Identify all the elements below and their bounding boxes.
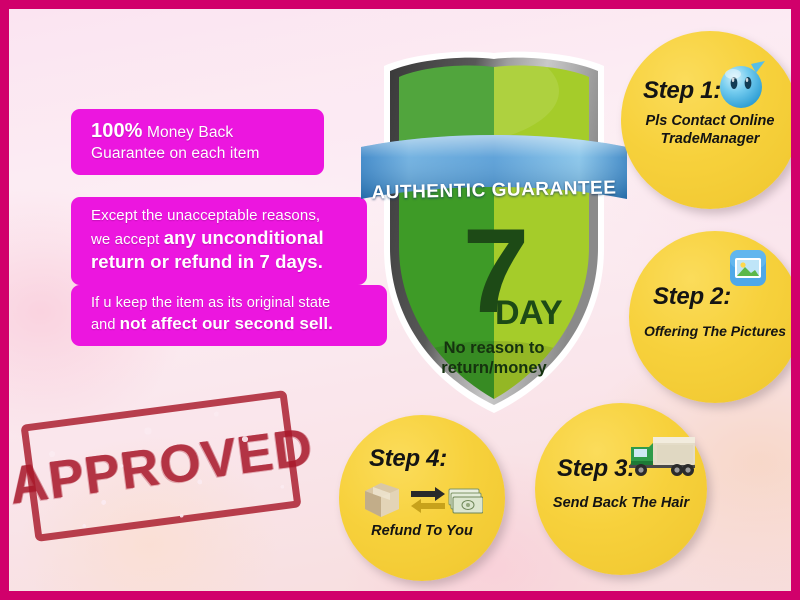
cash-icon (449, 489, 483, 513)
parcel-icon (365, 483, 399, 517)
shield-subtitle-line2: return/money (441, 359, 546, 377)
step-2-description: Offering The Pictures (629, 323, 800, 340)
step-1-description: Pls Contact Online TradeManager (621, 113, 799, 148)
exchange-arrows (411, 487, 445, 513)
banner3-lead: If u keep the item as its original state (91, 295, 330, 311)
banner2-mid: we accept (91, 231, 164, 248)
step-2-title: Step 2: (653, 283, 731, 311)
step-1-title: Step 1: (643, 77, 721, 105)
banner-money-back-guarantee: 100% Money Back Guarantee on each item (71, 109, 324, 175)
shield-subtitle-line1: No reason to (444, 339, 545, 357)
step-3-description: Send Back The Hair (535, 495, 707, 513)
banner3-bold: not affect our second sell. (120, 314, 333, 333)
banner-unconditional-return: Except the unacceptable reasons, we acce… (71, 197, 367, 285)
shield-subtitle: No reason to return/money (369, 339, 619, 379)
trade-manager-mascot-icon (717, 59, 769, 111)
step-3-title: Step 3: (557, 455, 635, 483)
banner3-mid: and (91, 317, 120, 333)
step-3-circle[interactable]: Step 3: Send Back The Hair (535, 403, 707, 575)
step-2-circle[interactable]: Step 2: Offering The Pictures (629, 231, 800, 403)
banner-original-state: If u keep the item as its original state… (71, 285, 387, 346)
banner1-emphasis: 100% (91, 120, 143, 142)
authentic-guarantee-shield: AUTHENTIC GUARANTEE 7 DAY No reason to r… (369, 51, 619, 413)
return-policy-poster: 100% Money Back Guarantee on each item E… (0, 0, 800, 600)
step-4-description: Refund To You (339, 523, 505, 541)
step-1-circle[interactable]: Step 1: Pls Contact Online Tra (621, 31, 799, 209)
package-cash-exchange-icon (361, 477, 483, 521)
step-4-circle[interactable]: Step 4: (339, 415, 505, 581)
picture-icon (729, 249, 767, 287)
shield-unit: DAY (495, 294, 562, 333)
shield-number: 7 (369, 219, 619, 325)
step-4-title: Step 4: (369, 445, 447, 473)
banner2-lead: Except the unacceptable reasons, (91, 207, 320, 224)
delivery-truck-icon (627, 431, 699, 483)
